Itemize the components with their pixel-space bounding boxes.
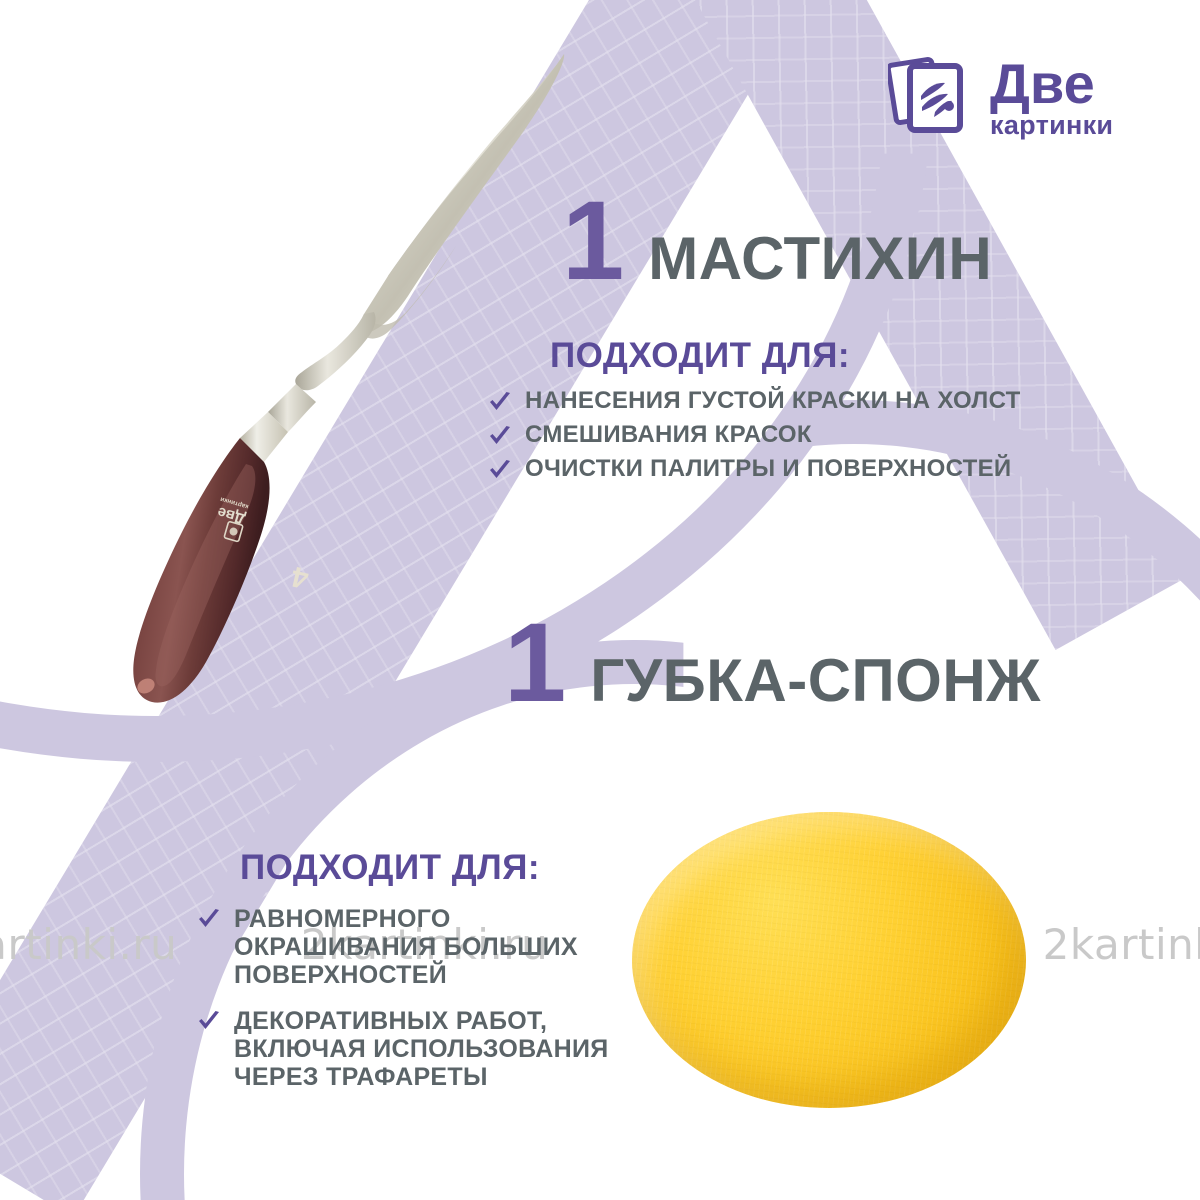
- check-icon: [196, 1009, 222, 1035]
- knife-size-marking: 4: [289, 560, 312, 595]
- section-1-count: 1: [562, 196, 622, 286]
- list-item: ДЕКОРАТИВНЫХ РАБОТ, ВКЛЮЧАЯ ИСПОЛЬЗОВАНИ…: [196, 1007, 666, 1091]
- section-1-subheading: ПОДХОДИТ ДЛЯ:: [550, 336, 850, 376]
- check-icon: [487, 390, 513, 416]
- section-1-benefit-list: НАНЕСЕНИЯ ГУСТОЙ КРАСКИ НА ХОЛСТ СМЕШИВА…: [487, 388, 1047, 490]
- sponge-shading: [632, 812, 1026, 1108]
- list-item-label: РАВНОМЕРНОГО ОКРАШИВАНИЯ БОЛЬШИХ ПОВЕРХН…: [234, 905, 578, 989]
- section-2-subheading: ПОДХОДИТ ДЛЯ:: [240, 848, 540, 888]
- list-item-label: СМЕШИВАНИЯ КРАСОК: [525, 422, 812, 449]
- sponge-body: [632, 812, 1026, 1108]
- brand-tagline: картинки: [990, 113, 1113, 138]
- watermark-text: 2kartinki.ru: [0, 920, 177, 969]
- infographic-canvas: 2kartinki.ru 2kartinki.ru 2kartinki.ru 2…: [0, 0, 1200, 1200]
- watermark-text: 2kartinki.ru: [1043, 920, 1200, 969]
- section-2-heading: 1 ГУБКА-СПОНЖ: [504, 618, 1041, 708]
- list-item: СМЕШИВАНИЯ КРАСОК: [487, 422, 1047, 450]
- check-icon: [196, 907, 222, 933]
- sponge-image: [632, 812, 1026, 1108]
- list-item: РАВНОМЕРНОГО ОКРАШИВАНИЯ БОЛЬШИХ ПОВЕРХН…: [196, 905, 666, 989]
- knife-blade: [361, 54, 564, 332]
- list-item-label: ДЕКОРАТИВНЫХ РАБОТ, ВКЛЮЧАЯ ИСПОЛЬЗОВАНИ…: [234, 1007, 608, 1091]
- brand-logo[interactable]: Две картинки: [888, 52, 1113, 144]
- brand-name: Две: [990, 58, 1113, 110]
- list-item-label: ОЧИСТКИ ПАЛИТРЫ И ПОВЕРХНОСТЕЙ: [525, 456, 1011, 483]
- list-item-label: НАНЕСЕНИЯ ГУСТОЙ КРАСКИ НА ХОЛСТ: [525, 388, 1021, 415]
- brand-logo-text: Две картинки: [990, 58, 1113, 137]
- two-pictures-frames-icon: [888, 52, 974, 144]
- list-item: НАНЕСЕНИЯ ГУСТОЙ КРАСКИ НА ХОЛСТ: [487, 388, 1047, 416]
- section-2-title: ГУБКА-СПОНЖ: [590, 654, 1041, 708]
- check-icon: [487, 458, 513, 484]
- check-icon: [487, 424, 513, 450]
- section-2-benefit-list: РАВНОМЕРНОГО ОКРАШИВАНИЯ БОЛЬШИХ ПОВЕРХН…: [196, 905, 666, 1109]
- section-2-count: 1: [504, 618, 564, 708]
- knife-neck: [295, 312, 375, 390]
- section-1-heading: 1 МАСТИХИН: [562, 196, 992, 286]
- list-item: ОЧИСТКИ ПАЛИТРЫ И ПОВЕРХНОСТЕЙ: [487, 456, 1047, 484]
- section-1-title: МАСТИХИН: [648, 232, 992, 286]
